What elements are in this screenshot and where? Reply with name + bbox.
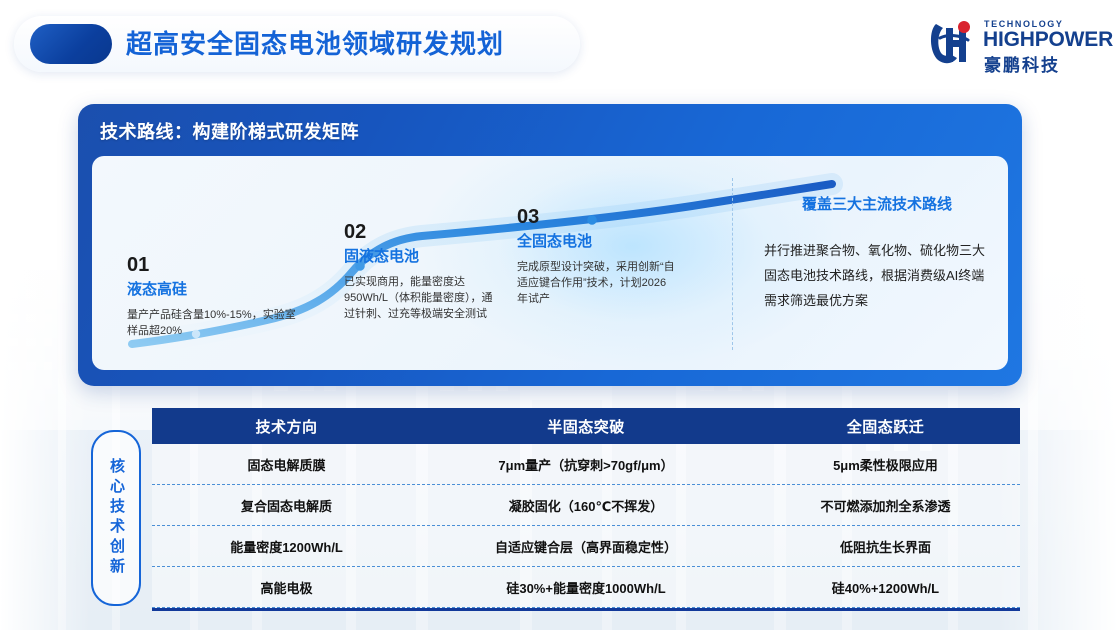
panel-vertical-divider <box>732 178 733 350</box>
page-title: 超高安全固态电池领域研发规划 <box>126 25 504 63</box>
table-cell: 高能电极 <box>152 578 421 597</box>
step-description: 量产产品硅含量10%-15%，实验室样品超20% <box>127 307 297 339</box>
step-title: 固液态电池 <box>344 246 499 268</box>
logo-name: HIGHPOWER <box>983 28 1113 52</box>
title-accent-shape <box>30 24 112 64</box>
table-cell: 固态电解质膜 <box>152 455 421 474</box>
table-header-cell: 全固态跃迁 <box>751 416 1020 437</box>
roadmap-panel-body: 01 液态高硅 量产产品硅含量10%-15%，实验室样品超20% 02 固液态电… <box>92 156 1008 370</box>
logo-name-cn: 豪鹏科技 <box>984 51 1060 76</box>
table-header-cell: 技术方向 <box>152 416 421 437</box>
table-row: 高能电极 硅30%+能量密度1000Wh/L 硅40%+1200Wh/L <box>152 567 1020 608</box>
table-cell: 硅30%+能量密度1000Wh/L <box>421 578 751 597</box>
core-innovation-label-text: 核心技术创新 <box>105 458 127 578</box>
table-header-row: 技术方向 半固态突破 全固态跃迁 <box>152 408 1020 444</box>
step-number: 02 <box>344 221 499 243</box>
background-left-fade <box>0 0 90 630</box>
step-description: 已实现商用，能量密度达950Wh/L（体积能量密度），通过针刺、过充等极端安全测… <box>344 274 499 322</box>
table-row: 复合固态电解质 凝胶固化（160℃不挥发） 不可燃添加剂全系渗透 <box>152 485 1020 526</box>
roadmap-step-01: 01 液态高硅 量产产品硅含量10%-15%，实验室样品超20% <box>127 254 297 339</box>
table-cell: 不可燃添加剂全系渗透 <box>751 496 1020 515</box>
table-bottom-rule <box>152 608 1020 611</box>
step-number: 03 <box>517 206 677 228</box>
core-innovation-label: 核心技术创新 <box>91 430 141 606</box>
table-row: 能量密度1200Wh/L 自适应键合层（高界面稳定性） 低阻抗生长界面 <box>152 526 1020 567</box>
table-header-cell: 半固态突破 <box>421 416 751 437</box>
page-header: 超高安全固态电池领域研发规划 TECHNOLOGY HIGHPOWER 豪鹏科技 <box>0 0 1118 86</box>
step-number: 01 <box>127 254 297 276</box>
table-cell: 自适应键合层（高界面稳定性） <box>421 537 751 556</box>
table-cell: 能量密度1200Wh/L <box>152 537 421 556</box>
table-cell: 7μm量产（抗穿刺>70gf/μm） <box>421 455 751 474</box>
roadmap-step-03: 03 全固态电池 完成原型设计突破，采用创新“自适应键合作用”技术，计划2026… <box>517 206 677 307</box>
step-title: 全固态电池 <box>517 231 677 253</box>
step-description: 完成原型设计突破，采用创新“自适应键合作用”技术，计划2026年试产 <box>517 259 677 307</box>
roadmap-step-02: 02 固液态电池 已实现商用，能量密度达950Wh/L（体积能量密度），通过针刺… <box>344 221 499 322</box>
table-cell: 凝胶固化（160℃不挥发） <box>421 496 751 515</box>
side-block-description: 并行推进聚合物、氧化物、硫化物三大固态电池技术路线，根据消费级AI终端需求筛选最… <box>764 238 990 313</box>
page-title-pill: 超高安全固态电池领域研发规划 <box>14 16 580 72</box>
company-logo: TECHNOLOGY HIGHPOWER 豪鹏科技 <box>926 16 1102 70</box>
roadmap-panel: 技术路线：构建阶梯式研发矩阵 <box>78 104 1022 386</box>
side-block-title: 覆盖三大主流技术路线 <box>764 194 990 216</box>
roadmap-panel-title: 技术路线：构建阶梯式研发矩阵 <box>100 118 359 144</box>
table-cell: 5μm柔性极限应用 <box>751 455 1020 474</box>
highpower-logo-icon <box>926 18 978 68</box>
table-cell: 复合固态电解质 <box>152 496 421 515</box>
table-cell: 低阻抗生长界面 <box>751 537 1020 556</box>
table-row: 固态电解质膜 7μm量产（抗穿刺>70gf/μm） 5μm柔性极限应用 <box>152 444 1020 485</box>
table-cell: 硅40%+1200Wh/L <box>751 578 1020 597</box>
roadmap-side-block: 覆盖三大主流技术路线 并行推进聚合物、氧化物、硫化物三大固态电池技术路线，根据消… <box>764 194 990 313</box>
innovation-matrix-table: 技术方向 半固态突破 全固态跃迁 固态电解质膜 7μm量产（抗穿刺>70gf/μ… <box>152 408 1020 611</box>
step-title: 液态高硅 <box>127 279 297 301</box>
